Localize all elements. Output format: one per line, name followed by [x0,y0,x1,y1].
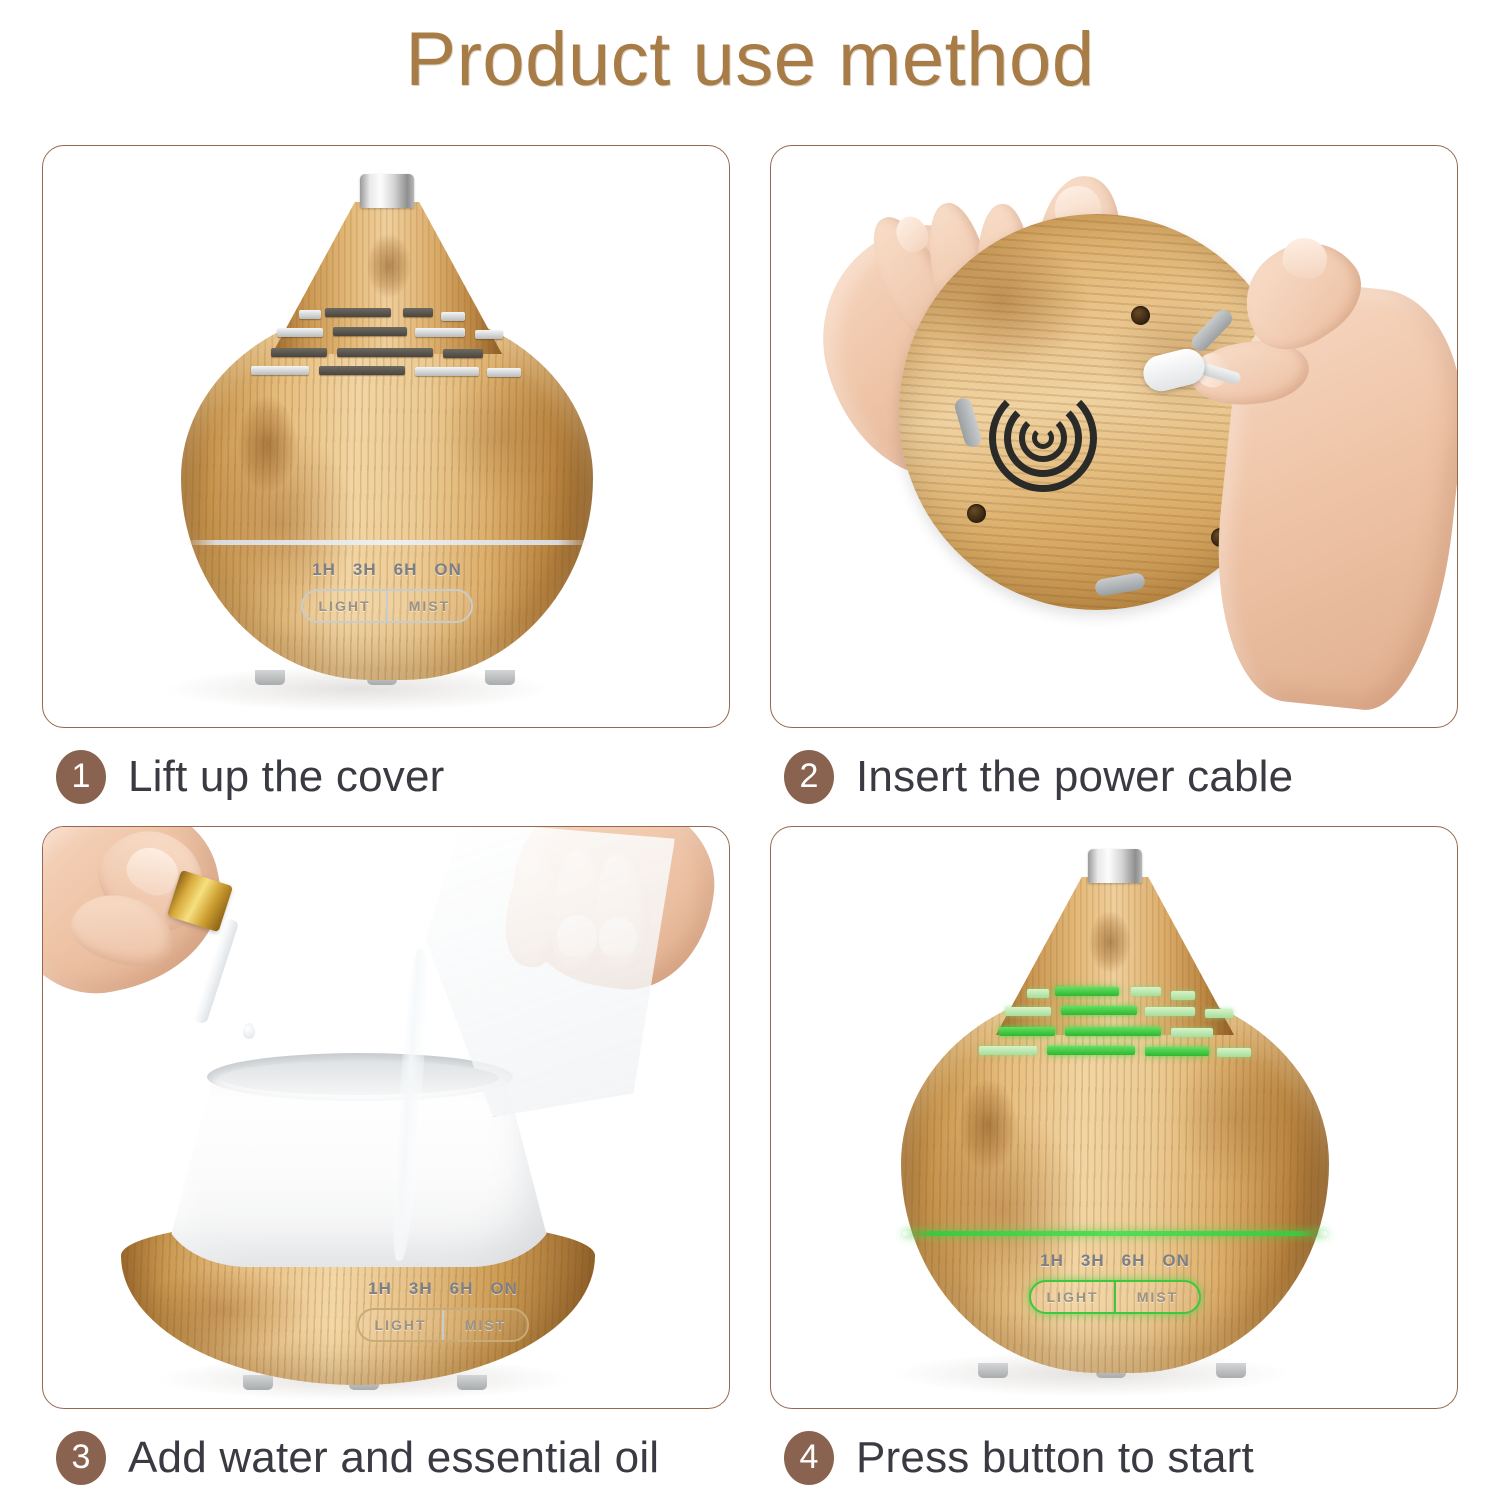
wood-knot [959,1079,1017,1171]
grille-slot [1171,991,1195,1000]
step-label: Press button to start [856,1433,1254,1483]
step-number-badge: 3 [56,1431,106,1485]
control-panel: 1H 3H 6H ON LIGHT MIST [357,1279,529,1342]
step-4-caption: 4 Press button to start [784,1426,1254,1490]
timer-label-on: ON [490,1279,518,1299]
button-pair[interactable]: LIGHT MIST [357,1308,529,1342]
grille-slot [1145,1007,1195,1016]
wood-knot [237,396,297,492]
timer-label-3h: 3H [409,1279,433,1299]
step-3-photo: 1H 3H 6H ON LIGHT MIST [42,826,730,1409]
grille-slot [1065,1027,1161,1036]
grille-slot [251,366,309,375]
timer-label-1h: 1H [312,560,336,580]
grille-slot [441,312,465,321]
grille-slot [979,1046,1037,1055]
tank-rim-inner [221,1061,499,1095]
grille-slot [403,308,433,317]
grille-slot [1055,987,1119,996]
mist-button[interactable]: MIST [1114,1282,1199,1312]
infographic-page: Product use method [0,0,1500,1500]
grille-slot [1205,1009,1233,1018]
foot [243,1375,273,1390]
wood-knot [1089,911,1131,973]
diffuser-device-closed: 1H 3H 6H ON LIGHT MIST [43,146,730,728]
timer-label-3h: 3H [353,560,377,580]
step-2-photo [770,145,1458,728]
timer-labels: 1H 3H 6H ON [357,1279,529,1299]
timer-label-6h: 6H [1122,1251,1146,1271]
light-button[interactable]: LIGHT [303,591,386,621]
step-4-photo: 1H 3H 6H ON LIGHT MIST [770,826,1458,1409]
grille-slot [1131,987,1161,996]
mist-button[interactable]: MIST [442,1310,527,1340]
timer-label-1h: 1H [1040,1251,1064,1271]
silver-cap-icon [1088,849,1142,883]
grille-slot [487,368,521,377]
screw-hole [1131,306,1150,325]
step-number-badge: 1 [56,750,106,804]
mist-button[interactable]: MIST [386,591,471,621]
grille-slot [415,328,465,337]
control-panel: 1H 3H 6H ON LIGHT MIST [1029,1251,1201,1314]
grille-slot [1027,989,1049,998]
step-3-caption: 3 Add water and essential oil [56,1426,659,1490]
timer-label-6h: 6H [450,1279,474,1299]
step-card-3: 1H 3H 6H ON LIGHT MIST [42,826,730,1500]
timer-label-3h: 3H [1081,1251,1105,1271]
timer-labels: 1H 3H 6H ON [301,560,473,580]
seam-line [184,540,590,545]
step-label: Insert the power cable [856,752,1293,802]
step-number-badge: 4 [784,1431,834,1485]
light-button[interactable]: LIGHT [359,1310,442,1340]
grille-slot [319,366,405,375]
grille-slot [1145,1047,1209,1056]
foot [485,670,515,685]
diffuser-device-lit: 1H 3H 6H ON LIGHT MIST [771,827,1458,1409]
grille-slot [1061,1006,1137,1015]
light-button[interactable]: LIGHT [1031,1282,1114,1312]
fan-vent-icon [989,384,1097,492]
grille-slot [337,348,433,357]
timer-label-on: ON [434,560,462,580]
step-2-caption: 2 Insert the power cable [784,745,1293,809]
grille-slot [1005,1007,1051,1016]
timer-labels: 1H 3H 6H ON [1029,1251,1201,1271]
oil-droplet [243,1023,255,1039]
step-1-photo: 1H 3H 6H ON LIGHT MIST [42,145,730,728]
wood-knot [367,234,411,298]
step-label: Lift up the cover [128,752,444,802]
vent-arc [1032,427,1054,449]
timer-label-on: ON [1162,1251,1190,1271]
grille-slot [1171,1028,1213,1037]
grille-slot [333,327,407,336]
timer-label-6h: 6H [394,560,418,580]
step-card-2: 2 Insert the power cable [770,145,1458,829]
grille-slot [999,1027,1055,1036]
grille-slot [475,330,503,339]
silver-cap-icon [360,174,414,208]
grille-slot [325,308,391,317]
foot [978,1363,1008,1378]
mist-grille [963,985,1267,1063]
grille-slot [1047,1046,1135,1055]
step-card-1: 1H 3H 6H ON LIGHT MIST [42,145,730,829]
step-card-4: 1H 3H 6H ON LIGHT MIST [770,826,1458,1500]
seam-line-lit [903,1231,1327,1236]
page-title: Product use method [0,16,1500,103]
grille-slot [277,328,323,337]
grille-slot [1217,1048,1251,1057]
grille-slot [299,310,321,319]
steps-grid: 1H 3H 6H ON LIGHT MIST [42,145,1458,1405]
button-pair[interactable]: LIGHT MIST [1029,1280,1201,1314]
step-label: Add water and essential oil [128,1433,659,1483]
mist-grille [237,306,537,382]
button-pair[interactable]: LIGHT MIST [301,589,473,623]
foot [457,1375,487,1390]
step-number-badge: 2 [784,750,834,804]
foot [255,670,285,685]
timer-label-1h: 1H [368,1279,392,1299]
step-1-caption: 1 Lift up the cover [56,745,444,809]
grille-slot [271,348,327,357]
grille-slot [443,349,483,358]
grille-slot [415,367,479,376]
control-panel: 1H 3H 6H ON LIGHT MIST [301,560,473,623]
screw-hole [967,504,986,523]
foot [1216,1363,1246,1378]
